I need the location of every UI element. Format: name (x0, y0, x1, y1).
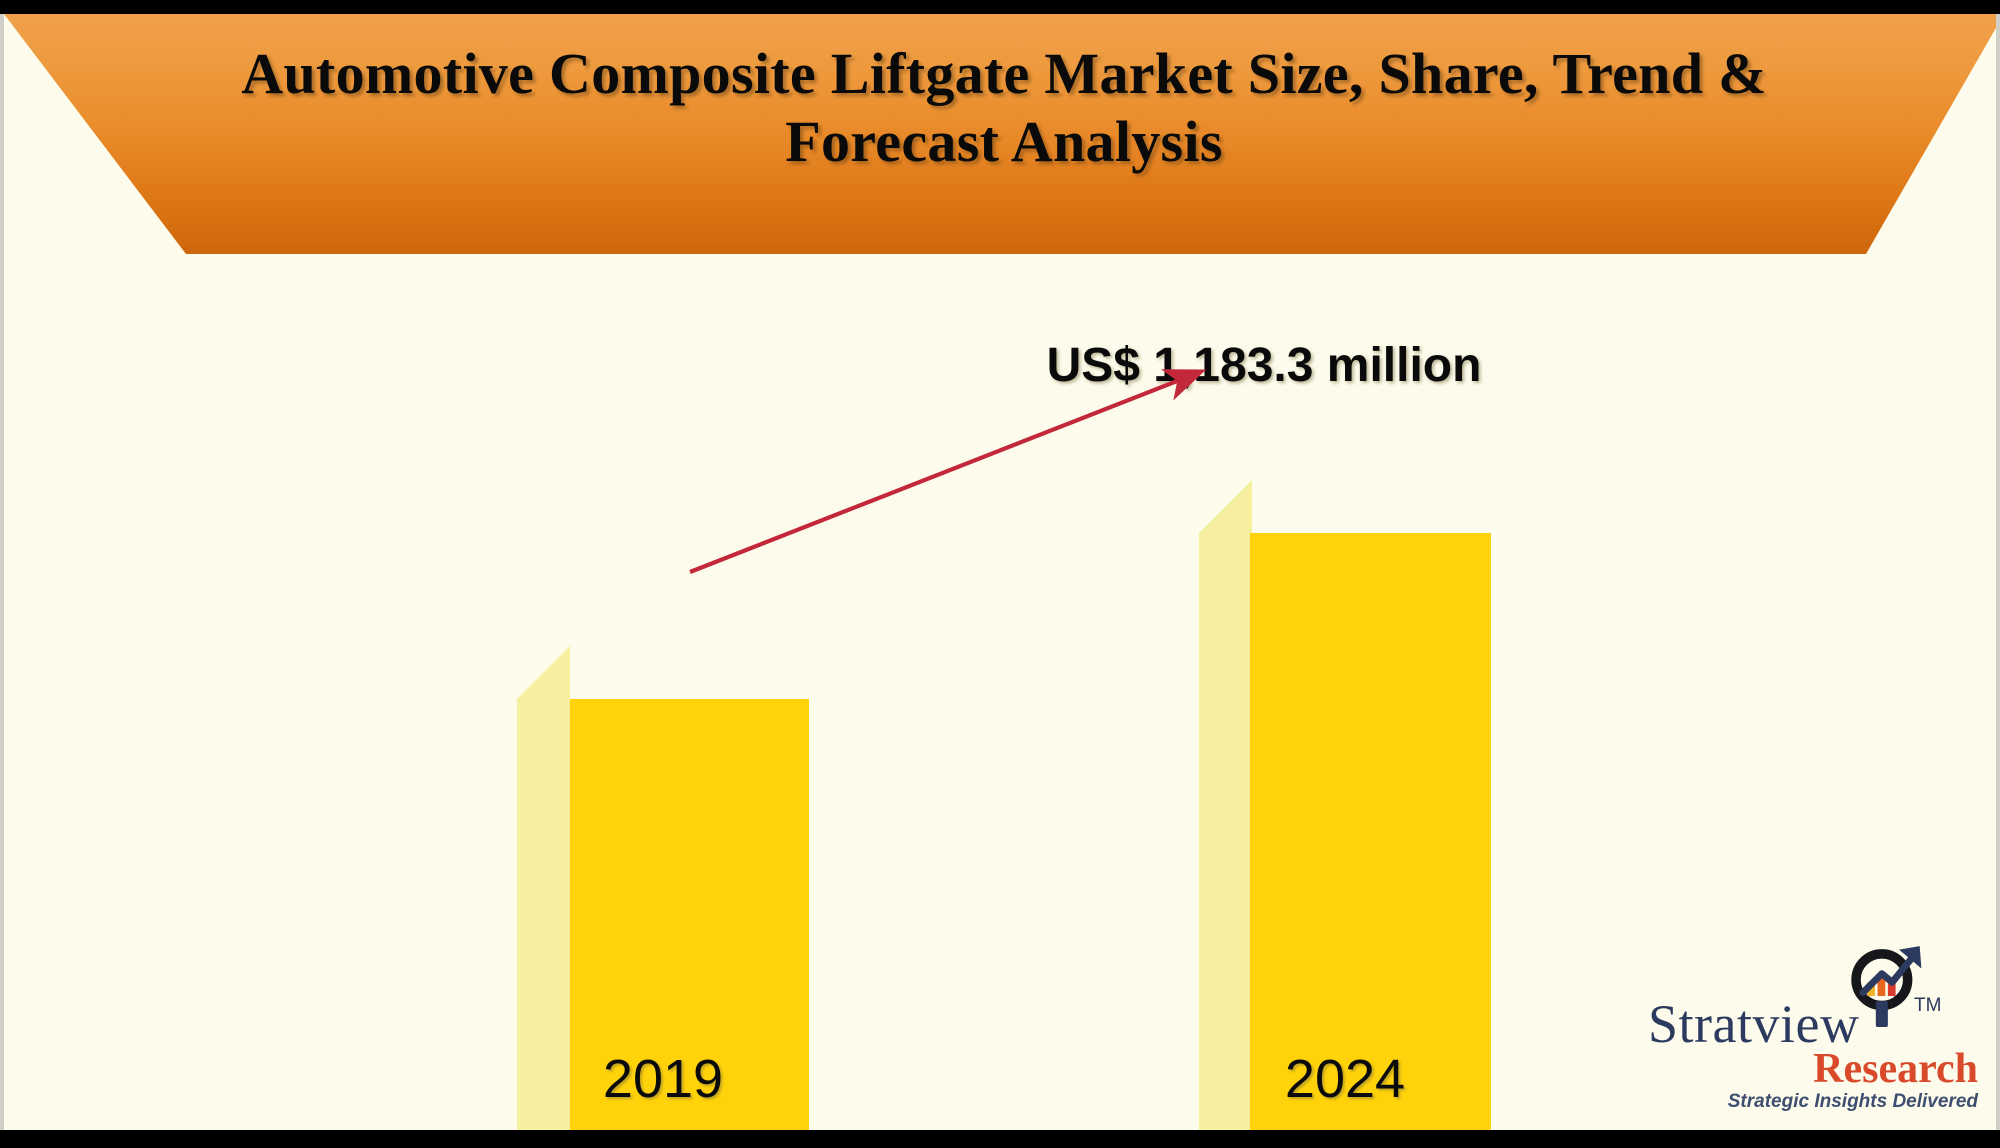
page-title: Automotive Composite Liftgate Market Siz… (154, 40, 1854, 176)
axis-label-2024: 2024 (1199, 1048, 1491, 1110)
bar-2024 (1199, 480, 1491, 1130)
logo-subbrand-text: Research (1700, 1045, 1978, 1093)
slide-canvas: Automotive Composite Liftgate Market Siz… (0, 14, 2000, 1130)
header-banner: Automotive Composite Liftgate Market Siz… (4, 14, 2000, 254)
slide-root: Automotive Composite Liftgate Market Siz… (0, 0, 2000, 1148)
axis-label-2019: 2019 (517, 1048, 809, 1110)
logo-tagline: Strategic Insights Delivered (1680, 1091, 1978, 1113)
logo-trademark-symbol: TM (1914, 995, 1941, 1017)
bar-2024-front-face (1250, 533, 1491, 1130)
bar-2024-side-face (1199, 480, 1252, 1130)
value-callout-2024: US$ 1,183.3 million (984, 338, 1544, 393)
stratview-research-logo: Stratview TM Research Strategic Insights… (1648, 941, 1978, 1116)
